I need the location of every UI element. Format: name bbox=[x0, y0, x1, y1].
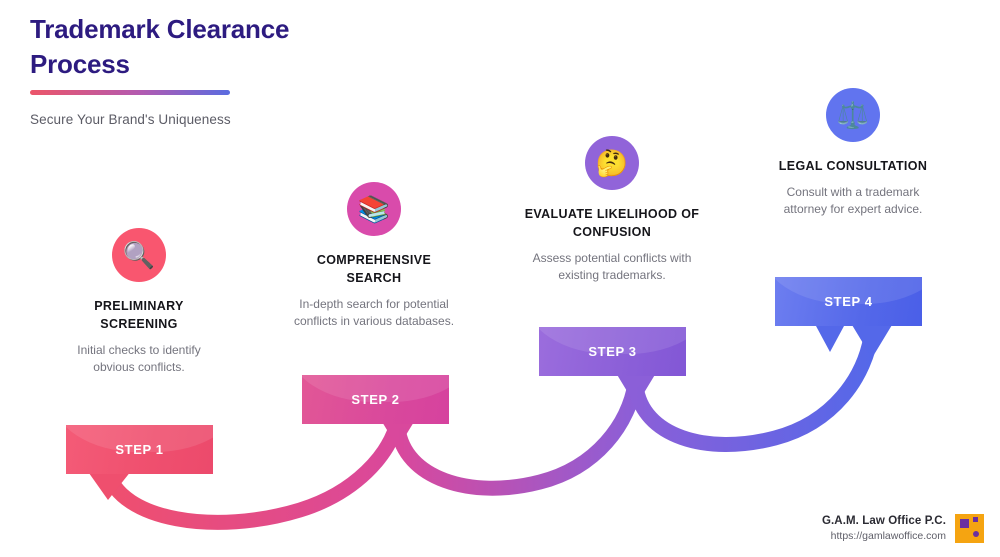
infographic-canvas: Trademark Clearance Process Secure Your … bbox=[0, 0, 1000, 557]
step-title-4: LEGAL CONSULTATION bbox=[764, 157, 942, 175]
step-banner-label: STEP 3 bbox=[588, 344, 636, 359]
step-info-3: 🤔 EVALUATE LIKELIHOOD OF CONFUSION Asses… bbox=[524, 136, 700, 284]
step-description-4: Consult with a trademark attorney for ex… bbox=[764, 184, 942, 218]
gam-law-office-logo-icon bbox=[955, 514, 984, 543]
step-banner-1[interactable]: STEP 1 bbox=[66, 425, 213, 474]
step-banner-label: STEP 2 bbox=[351, 392, 399, 407]
company-name: G.A.M. Law Office P.C. bbox=[822, 515, 946, 527]
step-banner-label: STEP 1 bbox=[115, 442, 163, 457]
step-info-4: ⚖️ LEGAL CONSULTATION Consult with a tra… bbox=[764, 88, 942, 218]
step-info-2: 📚 COMPREHENSIVE SEARCH In-depth search f… bbox=[288, 182, 460, 330]
step-title-3: EVALUATE LIKELIHOOD OF CONFUSION bbox=[524, 205, 700, 241]
step-description-2: In-depth search for potential conflicts … bbox=[288, 296, 460, 330]
thinking-face-icon: 🤔 bbox=[585, 136, 639, 190]
logo-dot bbox=[973, 531, 979, 537]
step-title-1: PRELIMINARY SCREENING bbox=[55, 297, 223, 333]
page-subtitle: Secure Your Brand's Uniqueness bbox=[30, 112, 450, 127]
page-title: Trademark Clearance Process bbox=[30, 12, 290, 81]
step-info-1: 🔍 PRELIMINARY SCREENING Initial checks t… bbox=[55, 228, 223, 376]
footer: G.A.M. Law Office P.C. https://gamlawoff… bbox=[822, 514, 984, 543]
magnifying-glass-icon: 🔍 bbox=[112, 228, 166, 282]
step-banner-3[interactable]: STEP 3 bbox=[539, 327, 686, 376]
step-description-3: Assess potential conflicts with existing… bbox=[524, 250, 700, 284]
logo-square-small bbox=[973, 517, 978, 522]
title-underline-rule bbox=[30, 90, 230, 95]
step-banner-2[interactable]: STEP 2 bbox=[302, 375, 449, 424]
step-description-1: Initial checks to identify obvious confl… bbox=[55, 342, 223, 376]
balance-scale-icon: ⚖️ bbox=[826, 88, 880, 142]
footer-text: G.A.M. Law Office P.C. https://gamlawoff… bbox=[822, 515, 946, 542]
company-url[interactable]: https://gamlawoffice.com bbox=[822, 530, 946, 542]
step-banner-4[interactable]: STEP 4 bbox=[775, 277, 922, 326]
books-icon: 📚 bbox=[347, 182, 401, 236]
step-title-2: COMPREHENSIVE SEARCH bbox=[288, 251, 460, 287]
step-banner-label: STEP 4 bbox=[824, 294, 872, 309]
logo-square-large bbox=[960, 519, 969, 528]
header: Trademark Clearance Process Secure Your … bbox=[30, 12, 450, 127]
